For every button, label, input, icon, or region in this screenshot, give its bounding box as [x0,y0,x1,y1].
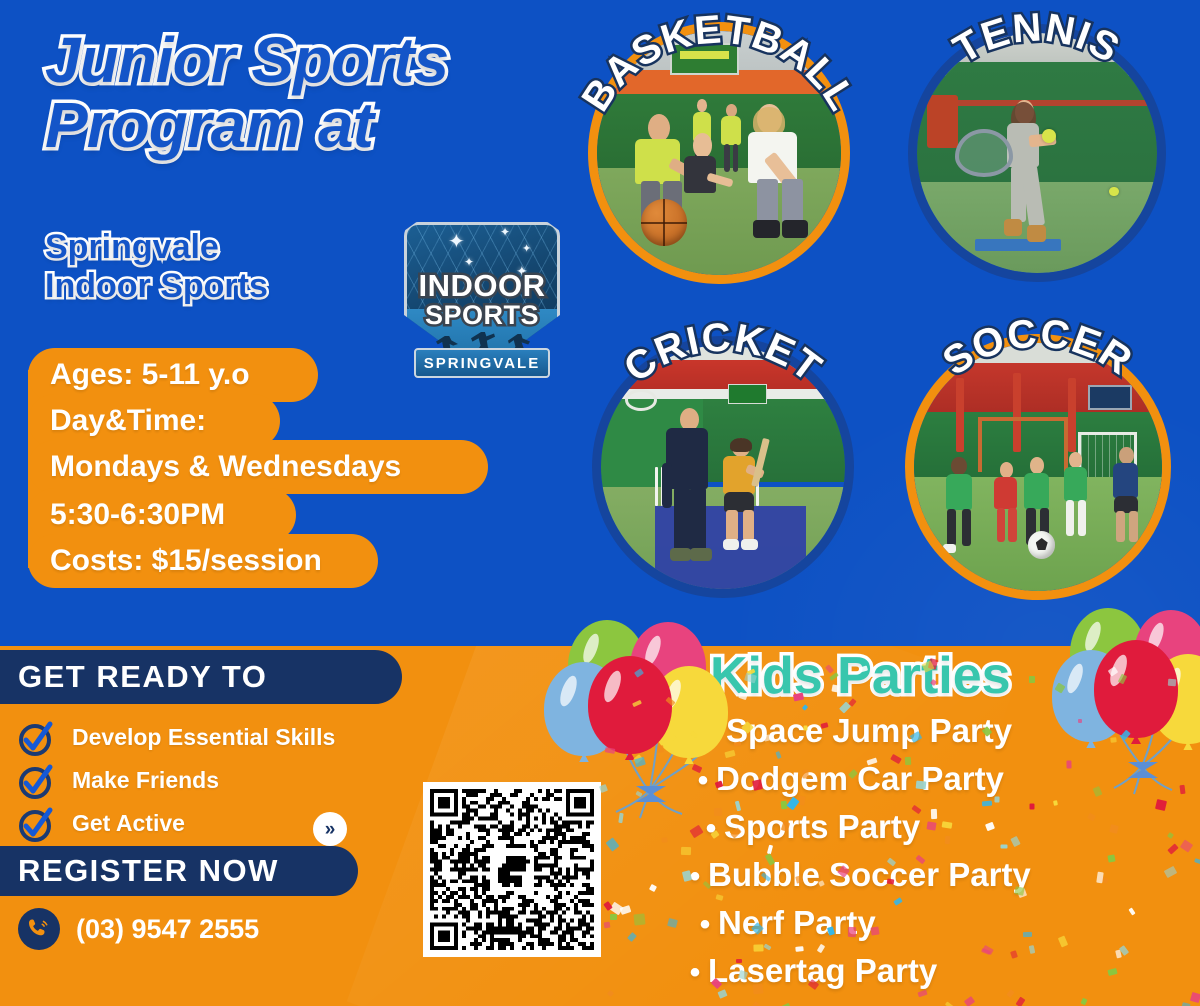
confetti-piece [905,757,912,765]
confetti-piece [753,984,764,995]
star-icon: ✦ [448,232,465,252]
soccer-photo [914,343,1162,591]
sport-circle-basketball: BASKETBALL [588,22,850,284]
list-item: Make Friends [16,759,416,802]
confetti-piece [1029,676,1035,683]
program-details-panel: Ages: 5-11 y.o Day&Time: Mondays & Wedne… [28,348,498,606]
confetti-piece [831,684,839,692]
detail-text: 5:30-6:30PM [28,498,247,532]
confetti-piece [1066,760,1071,768]
confetti-piece [945,836,951,844]
confetti-piece [752,779,763,791]
sport-circle-soccer: SOCCER [905,334,1171,600]
confetti-piece [681,847,691,855]
cricket-photo [601,345,845,589]
confetti-piece [753,944,763,951]
detail-text: Costs: $15/session [28,544,344,578]
headline-line-1: Junior Sports [45,24,448,96]
confetti-piece [736,959,742,963]
confetti-piece [931,809,937,819]
subtitle-line-1: Springvale [45,228,219,266]
confetti-piece [1179,785,1185,795]
confetti-piece [1053,800,1058,806]
basketball-icon [641,199,687,245]
confetti-piece [1168,679,1176,687]
confetti-piece [803,770,809,779]
flyer-canvas: Junior Sports Program at Springvale Indo… [0,0,1200,1006]
list-item: Develop Essential Skills [16,716,416,759]
register-now-label: REGISTER NOW [0,853,279,889]
check-circle-icon [16,761,58,801]
confetti-piece [803,725,807,730]
confetti-piece [848,927,856,937]
list-item: • Bubble Soccer Party [682,856,1196,903]
tennis-photo [917,33,1157,273]
confetti-piece [1001,845,1008,849]
confetti-piece [1078,719,1082,723]
tennis-racket-icon [955,129,1013,177]
confetti-piece [1110,737,1116,743]
bullet-icon: • [692,908,718,942]
page-title: Junior Sports Program at [45,28,605,159]
logo-word-indoor: INDOOR [396,268,568,304]
qr-code[interactable] [423,782,601,957]
star-icon: ✦ [500,226,510,238]
confetti-piece [916,780,927,789]
subtitle-line-2: Indoor Sports [45,267,385,306]
sport-circle-tennis: TENNIS [908,24,1166,282]
confetti-piece [1014,886,1024,896]
confetti-piece [1023,932,1032,937]
detail-text: Mondays & Wednesdays [28,450,423,484]
confetti-piece [982,801,992,807]
confetti-piece [604,922,611,929]
sport-circle-cricket: CRICKET [592,336,854,598]
detail-text: Ages: 5-11 y.o [28,358,272,392]
basketball-photo [597,31,841,275]
headline-line-2: Program at [45,93,605,158]
list-item: • Sports Party [698,808,1196,855]
phone-contact[interactable]: (03) 9547 2555 [18,908,259,950]
star-icon: ✦ [464,256,474,268]
benefit-label: Develop Essential Skills [72,724,335,751]
confetti-piece [610,914,617,920]
double-chevron-icon[interactable]: » [313,812,347,846]
confetti-piece [714,808,722,816]
get-ready-label: GET READY TO [0,659,267,695]
benefit-label: Get Active [72,810,185,837]
confetti-piece [657,745,664,753]
list-item: Get Active [16,802,416,845]
confetti-piece [1107,854,1115,862]
confetti-piece [926,821,936,830]
detail-row-days: Mondays & Wednesdays [28,440,488,494]
confetti-piece [633,913,645,925]
confetti-piece [870,926,879,935]
soccer-ball-icon [1028,531,1055,558]
party-label: Bubble Soccer Party [708,856,1031,894]
venue-subtitle: Springvale Indoor Sports [45,228,385,307]
benefit-label: Make Friends [72,767,219,794]
check-circle-icon [16,804,58,844]
register-now-button[interactable]: REGISTER NOW [0,846,358,896]
confetti-piece [661,837,667,843]
bullet-icon: • [682,956,708,990]
detail-text: Day&Time: [28,404,228,438]
confetti-piece [1030,804,1035,810]
phone-icon [18,908,60,950]
confetti-piece [795,946,803,952]
list-item: • Dodgem Car Party [690,760,1196,807]
qr-code-canvas [430,789,594,950]
confetti-piece [994,796,999,802]
phone-number-text: (03) 9547 2555 [76,914,259,945]
bullet-icon: • [700,716,726,750]
tennis-ball-icon [1109,187,1119,197]
confetti-piece [887,879,895,885]
get-ready-banner: GET READY TO [0,650,402,704]
star-icon: ✦ [522,244,531,255]
check-circle-icon [16,718,58,758]
benefits-checklist: Develop Essential Skills Make Friends [16,716,416,845]
detail-row-cost: Costs: $15/session [28,534,378,588]
party-label: Space Jump Party [726,712,1012,750]
logo-word-sports: SPORTS [396,300,568,331]
party-label: Sports Party [724,808,920,846]
